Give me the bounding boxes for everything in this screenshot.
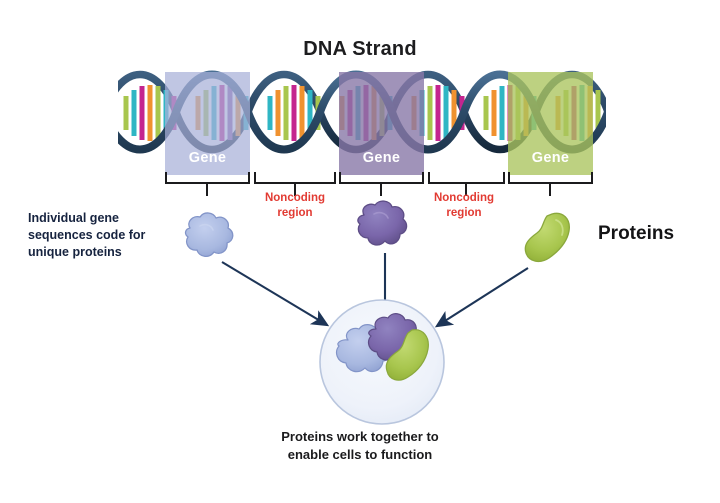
- proteins-label: Proteins: [598, 223, 674, 245]
- noncoding-line-1: Noncoding: [240, 191, 350, 206]
- noncoding-line-1: Noncoding: [409, 191, 519, 206]
- noncoding-region-label-2: Noncoding region: [409, 191, 519, 220]
- left-caption: Individual gene sequences code for uniqu…: [28, 210, 188, 261]
- gene-label-1: Gene: [165, 150, 250, 166]
- arrow-blue-to-cell: [222, 262, 327, 325]
- gene-label-3: Gene: [508, 150, 593, 166]
- left-caption-line-1: Individual gene: [28, 210, 188, 227]
- segment-brackets: [166, 172, 592, 196]
- noncoding-region-label-1: Noncoding region: [240, 191, 350, 220]
- diagram-canvas: DNA Strand Gene Gene Gene Noncoding regi…: [0, 0, 720, 503]
- bracket-noncoding-2: [429, 172, 504, 183]
- left-caption-line-3: unique proteins: [28, 244, 188, 261]
- noncoding-line-2: region: [240, 206, 350, 221]
- gene-segment-3[interactable]: Gene: [508, 72, 593, 175]
- gene-segment-1[interactable]: Gene: [165, 72, 250, 175]
- gene-segment-2[interactable]: Gene: [339, 72, 424, 175]
- bottom-caption-line-1: Proteins work together to: [230, 428, 490, 446]
- gene-label-2: Gene: [339, 150, 424, 166]
- arrow-green-to-cell: [437, 268, 528, 326]
- protein-green-standalone: [525, 213, 569, 261]
- cell: [320, 300, 444, 424]
- bottom-caption-line-2: enable cells to function: [230, 446, 490, 464]
- protein-blue-standalone: [186, 213, 233, 256]
- left-caption-line-2: sequences code for: [28, 227, 188, 244]
- bracket-noncoding-1: [255, 172, 335, 183]
- page-title: DNA Strand: [0, 38, 720, 61]
- noncoding-line-2: region: [409, 206, 519, 221]
- bottom-caption: Proteins work together to enable cells t…: [230, 428, 490, 464]
- protein-purple-standalone: [358, 201, 407, 245]
